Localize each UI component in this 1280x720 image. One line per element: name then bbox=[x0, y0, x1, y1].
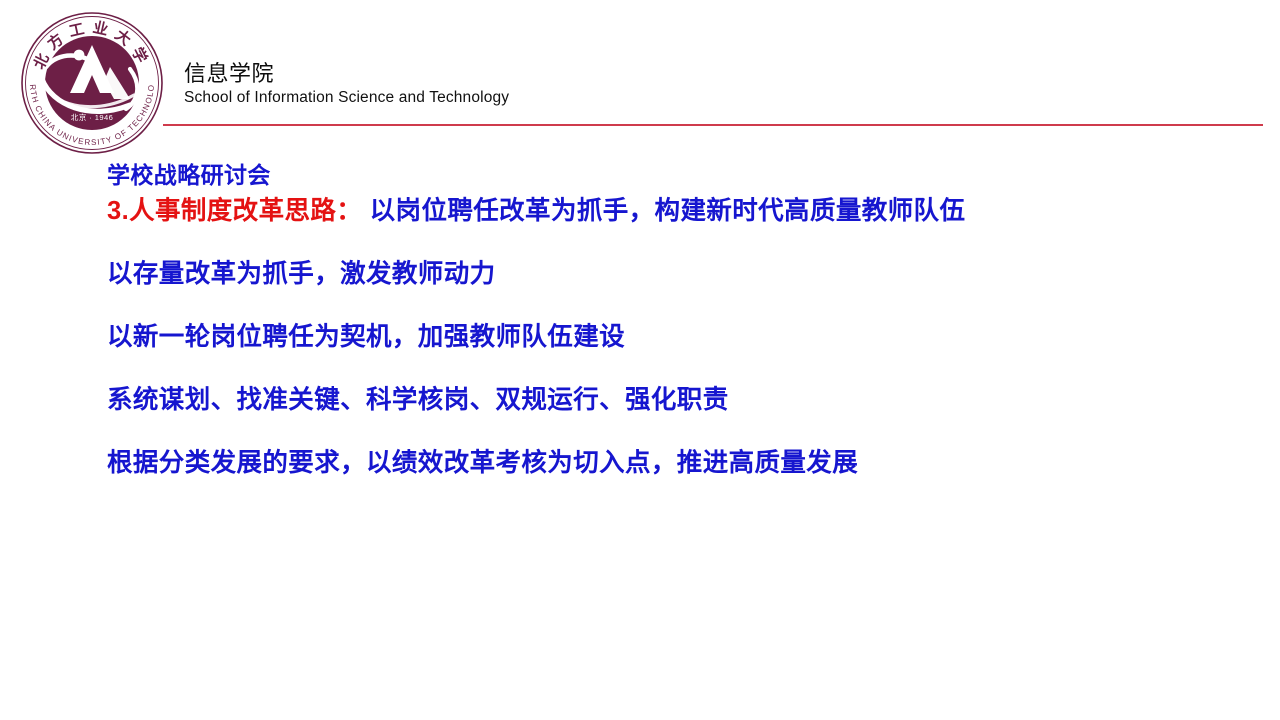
content-line-4-blue: 系统谋划、找准关键、科学核岗、双规运行、强化职责 bbox=[107, 386, 729, 414]
content-line-3-blue: 以新一轮岗位聘任为契机，加强教师队伍建设 bbox=[107, 323, 625, 351]
university-seal-logo: 北京 · 1946 北方工业大学 NORTH CHINA UNIVERSITY … bbox=[18, 9, 166, 157]
content-line-1-red: 3.人事制度改革思路： bbox=[107, 197, 362, 225]
department-name-cn: 信息学院 bbox=[184, 60, 884, 87]
content-line-2-blue: 以存量改革为抓手，激发教师动力 bbox=[107, 260, 496, 288]
content-line-5-blue: 根据分类发展的要求，以绩效改革考核为切入点，推进高质量发展 bbox=[107, 449, 858, 477]
content-line-1-blue: 以岗位聘任改革为抓手，构建新时代高质量教师队伍 bbox=[362, 197, 965, 225]
presentation-slide: 北京 · 1946 北方工业大学 NORTH CHINA UNIVERSITY … bbox=[0, 0, 1280, 720]
content-line-4: 系统谋划、找准关键、科学核岗、双规运行、强化职责 bbox=[107, 383, 1237, 446]
slide-header: 北京 · 1946 北方工业大学 NORTH CHINA UNIVERSITY … bbox=[0, 0, 1280, 142]
content-line-3: 以新一轮岗位聘任为契机，加强教师队伍建设 bbox=[107, 320, 1237, 383]
content-line-1: 3.人事制度改革思路： 以岗位聘任改革为抓手，构建新时代高质量教师队伍 bbox=[107, 194, 1237, 257]
header-title-group: 信息学院 School of Information Science and T… bbox=[184, 60, 884, 108]
department-name-en: School of Information Science and Techno… bbox=[184, 88, 884, 108]
content-line-5: 根据分类发展的要求，以绩效改革考核为切入点，推进高质量发展 bbox=[107, 446, 1237, 480]
content-line-2: 以存量改革为抓手，激发教师动力 bbox=[107, 257, 1237, 320]
slide-content: 学校战略研讨会 3.人事制度改革思路： 以岗位聘任改革为抓手，构建新时代高质量教… bbox=[107, 160, 1237, 480]
seal-founded-text: 北京 · 1946 bbox=[71, 112, 113, 122]
header-divider-rule bbox=[163, 124, 1263, 126]
slide-heading: 学校战略研讨会 bbox=[107, 160, 1237, 194]
